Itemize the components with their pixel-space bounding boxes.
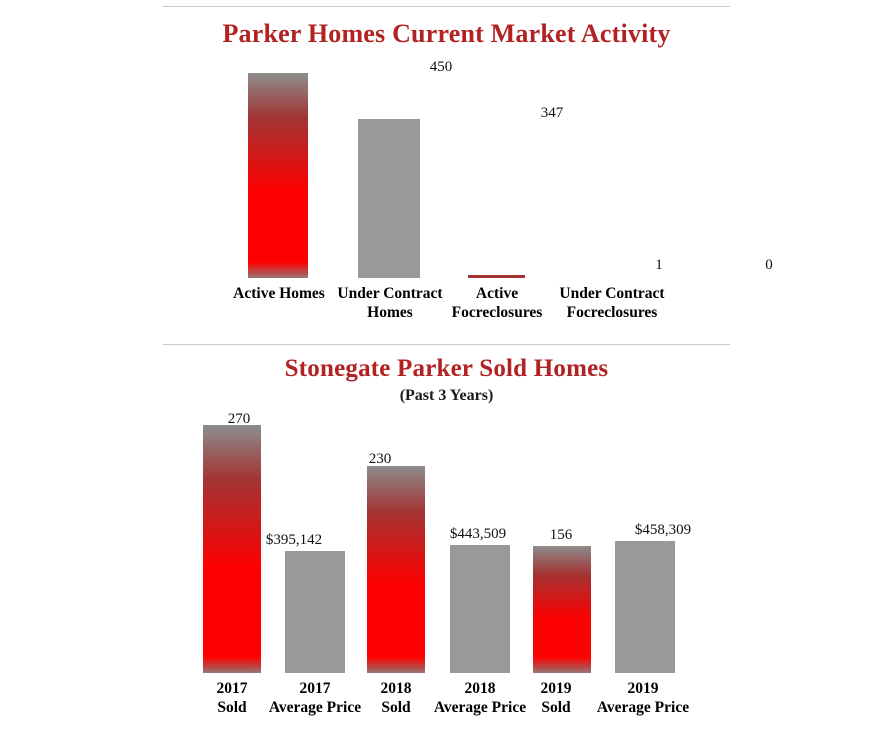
chart1-category-label-2-line-0: Active xyxy=(442,284,552,303)
chart2-bar-2017-average-price[interactable] xyxy=(285,551,345,673)
chart1-category-label-3-line-1: Focreclosures xyxy=(548,303,676,322)
chart2-bar-2017-sold[interactable] xyxy=(203,425,261,673)
chart1-category-label-3-line-0: Under Contract xyxy=(548,284,676,303)
chart2-bar-2018-sold[interactable] xyxy=(367,466,425,673)
chart1-bar-active-foreclosures[interactable] xyxy=(468,275,525,278)
chart1-value-label-3: 0 xyxy=(734,257,804,274)
chart1-plot-area: 450 347 1 0 xyxy=(163,60,730,278)
chart2-plot-area: 270 $395,142 230 $443,509 156 $458,309 xyxy=(163,413,730,673)
chart1-category-label-3: Under Contract Focreclosures xyxy=(548,284,676,322)
chart2-bar-2019-sold-foot xyxy=(533,657,591,673)
chart1-bar-active-homes-foot xyxy=(248,262,308,278)
chart1-category-label-2-line-1: Focreclosures xyxy=(442,303,552,322)
chart2-value-label-3: $443,509 xyxy=(428,526,528,543)
chart2-bar-2018-sold-foot xyxy=(367,657,425,673)
chart1-category-label-2: Active Focreclosures xyxy=(442,284,552,322)
chart2-category-label-5-line-1: Average Price xyxy=(578,698,708,717)
chart2-bar-2017-sold-foot xyxy=(203,657,261,673)
chart1-value-label-2: 1 xyxy=(624,257,694,274)
chart2-bar-2019-sold[interactable] xyxy=(533,546,591,673)
chart2-category-label-5: 2019 Average Price xyxy=(578,679,708,717)
chart2-value-label-4: 156 xyxy=(526,527,596,544)
chart1-category-label-1-line-0: Under Contract xyxy=(330,284,450,303)
chart1-bar-under-contract-homes[interactable] xyxy=(358,119,420,278)
chart2-bar-2018-average-price[interactable] xyxy=(450,545,510,673)
chart2-bar-2019-average-price[interactable] xyxy=(615,541,675,673)
middle-divider xyxy=(163,344,730,345)
chart2-value-label-5: $458,309 xyxy=(613,522,713,539)
top-divider xyxy=(163,6,730,7)
chart1-category-label-0: Active Homes xyxy=(215,284,343,303)
chart1-value-label-1: 347 xyxy=(517,105,587,122)
chart1-category-label-1-line-1: Homes xyxy=(330,303,450,322)
chart1-value-label-0: 450 xyxy=(406,59,476,76)
chart1-category-label-0-line-0: Active Homes xyxy=(215,284,343,303)
chart2-title: Stonegate Parker Sold Homes xyxy=(163,354,730,383)
chart1-bar-active-homes[interactable] xyxy=(248,73,308,278)
chart2-category-label-5-line-0: 2019 xyxy=(578,679,708,698)
chart2-subtitle: (Past 3 Years) xyxy=(163,386,730,406)
chart1-category-label-1: Under Contract Homes xyxy=(330,284,450,322)
chart1-title: Parker Homes Current Market Activity xyxy=(163,19,730,49)
